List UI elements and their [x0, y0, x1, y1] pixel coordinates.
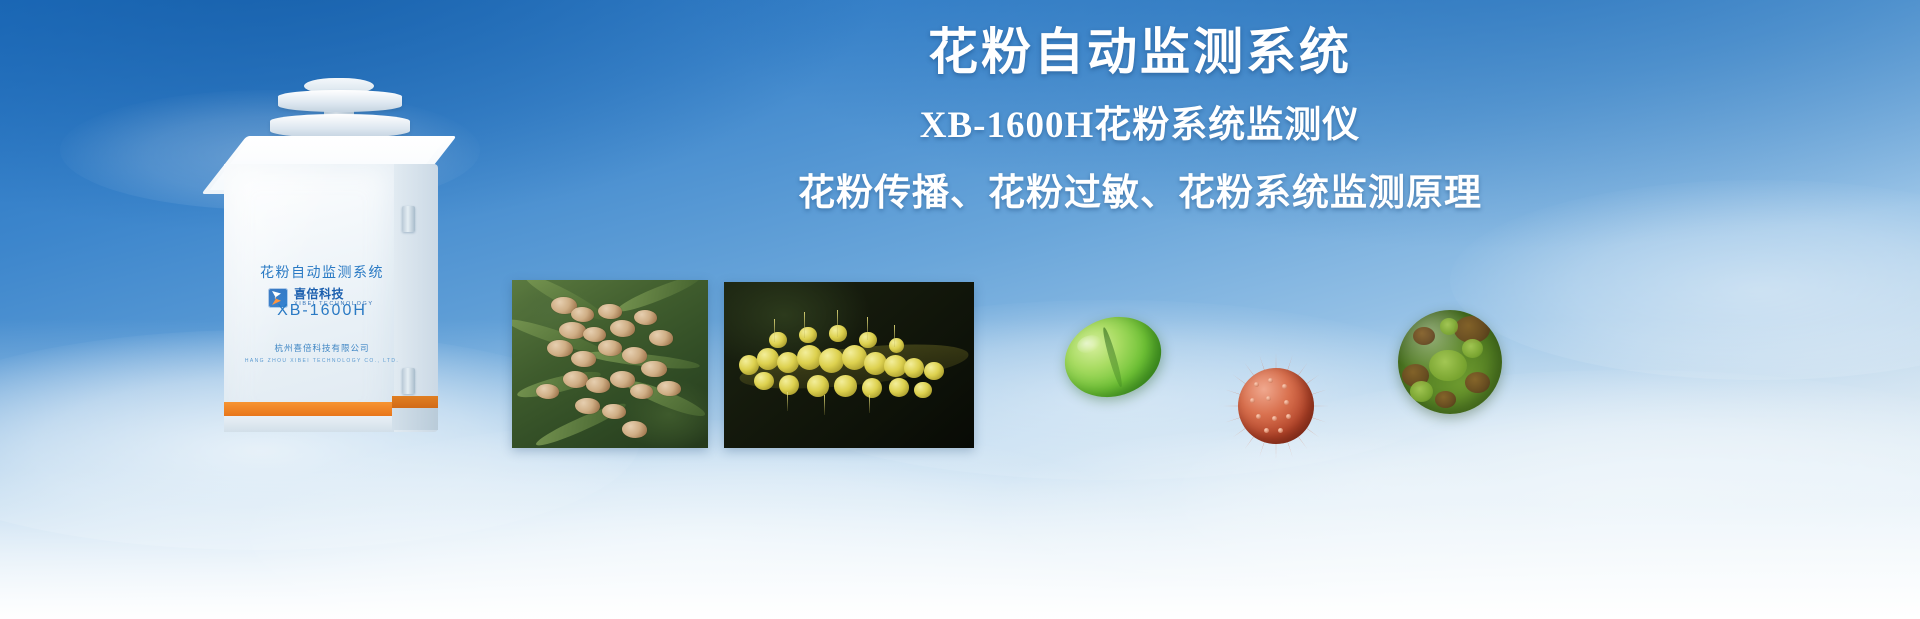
catkin-flowering-spike-photo — [724, 282, 974, 448]
pollen-monitoring-banner: 花粉自动监测系统 XB-1600H花粉系统监测仪 花粉传播、花粉过敏、花粉系统监… — [0, 0, 1920, 619]
device-title-label: 花粉自动监测系统 — [196, 262, 496, 282]
device-accent-stripe — [224, 402, 394, 416]
device-side-panel — [392, 164, 438, 432]
air-inlet-disc — [270, 114, 410, 138]
device-front-panel: 喜倍科技 XIBEI TECHNOLOGY — [224, 164, 394, 432]
horizon-haze — [0, 470, 1920, 619]
pollen-monitor-device: 喜倍科技 XIBEI TECHNOLOGY 花粉自动监测系统 XB-1600H … — [196, 78, 496, 428]
device-base-side — [392, 408, 438, 430]
device-company-label-cn: 杭州喜倍科技有限公司 — [196, 342, 496, 354]
device-model-label: XB-1600H — [196, 302, 496, 320]
page-title: 花粉自动监测系统 — [600, 24, 1680, 82]
cypress-pollen-cones-photo — [512, 280, 708, 448]
mossy-green-pollen-grain — [1398, 310, 1502, 414]
door-latch-icon — [402, 368, 415, 394]
device-base-front — [224, 416, 394, 432]
spiky-red-pollen-grain — [1222, 352, 1330, 460]
door-latch-icon — [402, 206, 415, 232]
product-model-subtitle: XB-1600H花粉系统监测仪 — [600, 104, 1680, 148]
cloud-bank — [250, 420, 1150, 619]
green-pollen-grain — [1054, 305, 1171, 409]
air-inlet-disc — [278, 90, 402, 112]
headline-block: 花粉自动监测系统 XB-1600H花粉系统监测仪 花粉传播、花粉过敏、花粉系统监… — [600, 24, 1680, 216]
device-company-label-en: HANG ZHOU XIBEI TECHNOLOGY CO., LTD. — [196, 358, 496, 364]
topics-subtitle: 花粉传播、花粉过敏、花粉系统监测原理 — [600, 172, 1680, 216]
brand-name-cn: 喜倍科技 — [294, 288, 374, 300]
